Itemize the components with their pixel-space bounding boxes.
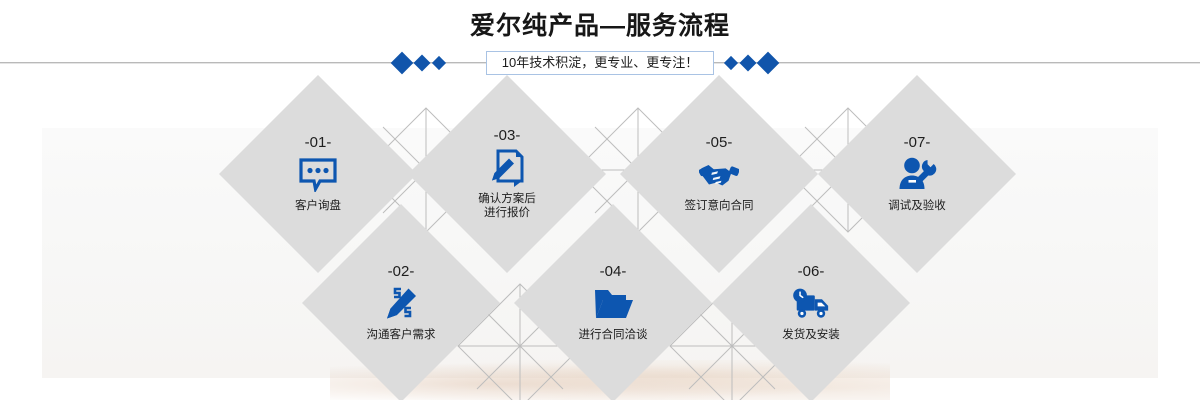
step-number: -03-: [494, 128, 521, 144]
step-content: -02- 沟通客户需求: [331, 233, 471, 373]
step-label-line: 客户询盘: [295, 199, 341, 213]
step-content: -04- 进行合同洽谈: [543, 233, 683, 373]
flow-step-3[interactable]: -03- 确认方案后进行报价: [437, 104, 577, 244]
header-diamonds-left: [394, 51, 444, 75]
step-content: -03- 确认方案后进行报价: [437, 104, 577, 244]
step-label: 进行合同洽谈: [579, 328, 648, 342]
diamond-icon: [414, 55, 431, 72]
flow-step-7[interactable]: -07- 调试及验收: [847, 104, 987, 244]
diamond-icon: [432, 56, 446, 70]
diamond-icon: [391, 52, 414, 75]
flow-step-2[interactable]: -02- 沟通客户需求: [331, 233, 471, 373]
step-label: 客户询盘: [295, 199, 341, 213]
diamond-icon: [757, 52, 780, 75]
step-label-line: 进行合同洽谈: [579, 328, 648, 342]
step-content: -06- 发货及安装: [741, 233, 881, 373]
handshake-icon: [699, 155, 739, 195]
step-label: 签订意向合同: [685, 199, 754, 213]
flow-step-4[interactable]: -04- 进行合同洽谈: [543, 233, 683, 373]
step-label: 确认方案后进行报价: [478, 192, 536, 220]
step-content: -07- 调试及验收: [847, 104, 987, 244]
diamond-icon: [724, 56, 738, 70]
step-label: 发货及安装: [782, 328, 840, 342]
step-label-line: 发货及安装: [782, 328, 840, 342]
flow-step-6[interactable]: -06- 发货及安装: [741, 233, 881, 373]
step-label: 沟通客户需求: [367, 328, 436, 342]
step-number: -05-: [706, 135, 733, 151]
step-number: -06-: [798, 264, 825, 280]
delivery-truck-icon: [791, 284, 831, 324]
step-content: -01- 客户询盘: [248, 104, 388, 244]
flow-step-1[interactable]: -01- 客户询盘: [248, 104, 388, 244]
step-number: -01-: [305, 135, 332, 151]
service-flow-banner: 爱尔纯产品—服务流程 10年技术积淀，更专业、更专注！ -01- 客户询盘-02…: [0, 0, 1200, 400]
step-label-line: 调试及验收: [888, 199, 946, 213]
step-content: -05- 签订意向合同: [649, 104, 789, 244]
step-number: -02-: [388, 264, 415, 280]
flow-step-5[interactable]: -05- 签订意向合同: [649, 104, 789, 244]
step-number: -04-: [600, 264, 627, 280]
page-title: 爱尔纯产品—服务流程: [0, 10, 1200, 42]
chat-bubble-icon: [298, 155, 338, 195]
pencil-write-icon: [381, 284, 421, 324]
step-label-line: 签订意向合同: [685, 199, 754, 213]
technician-wrench-icon: [897, 155, 937, 195]
open-folder-icon: [593, 284, 633, 324]
step-label-line: 确认方案后: [478, 192, 536, 206]
step-label-line: 沟通客户需求: [367, 328, 436, 342]
step-number: -07-: [904, 135, 931, 151]
subtitle-text: 10年技术积淀，更专业、更专注！: [502, 52, 698, 74]
document-pencil-icon: [487, 148, 527, 188]
step-label-line: 进行报价: [478, 206, 536, 220]
header-diamonds-right: [726, 51, 776, 75]
diamond-icon: [740, 55, 757, 72]
step-label: 调试及验收: [888, 199, 946, 213]
subtitle-box: 10年技术积淀，更专业、更专注！: [486, 51, 714, 75]
